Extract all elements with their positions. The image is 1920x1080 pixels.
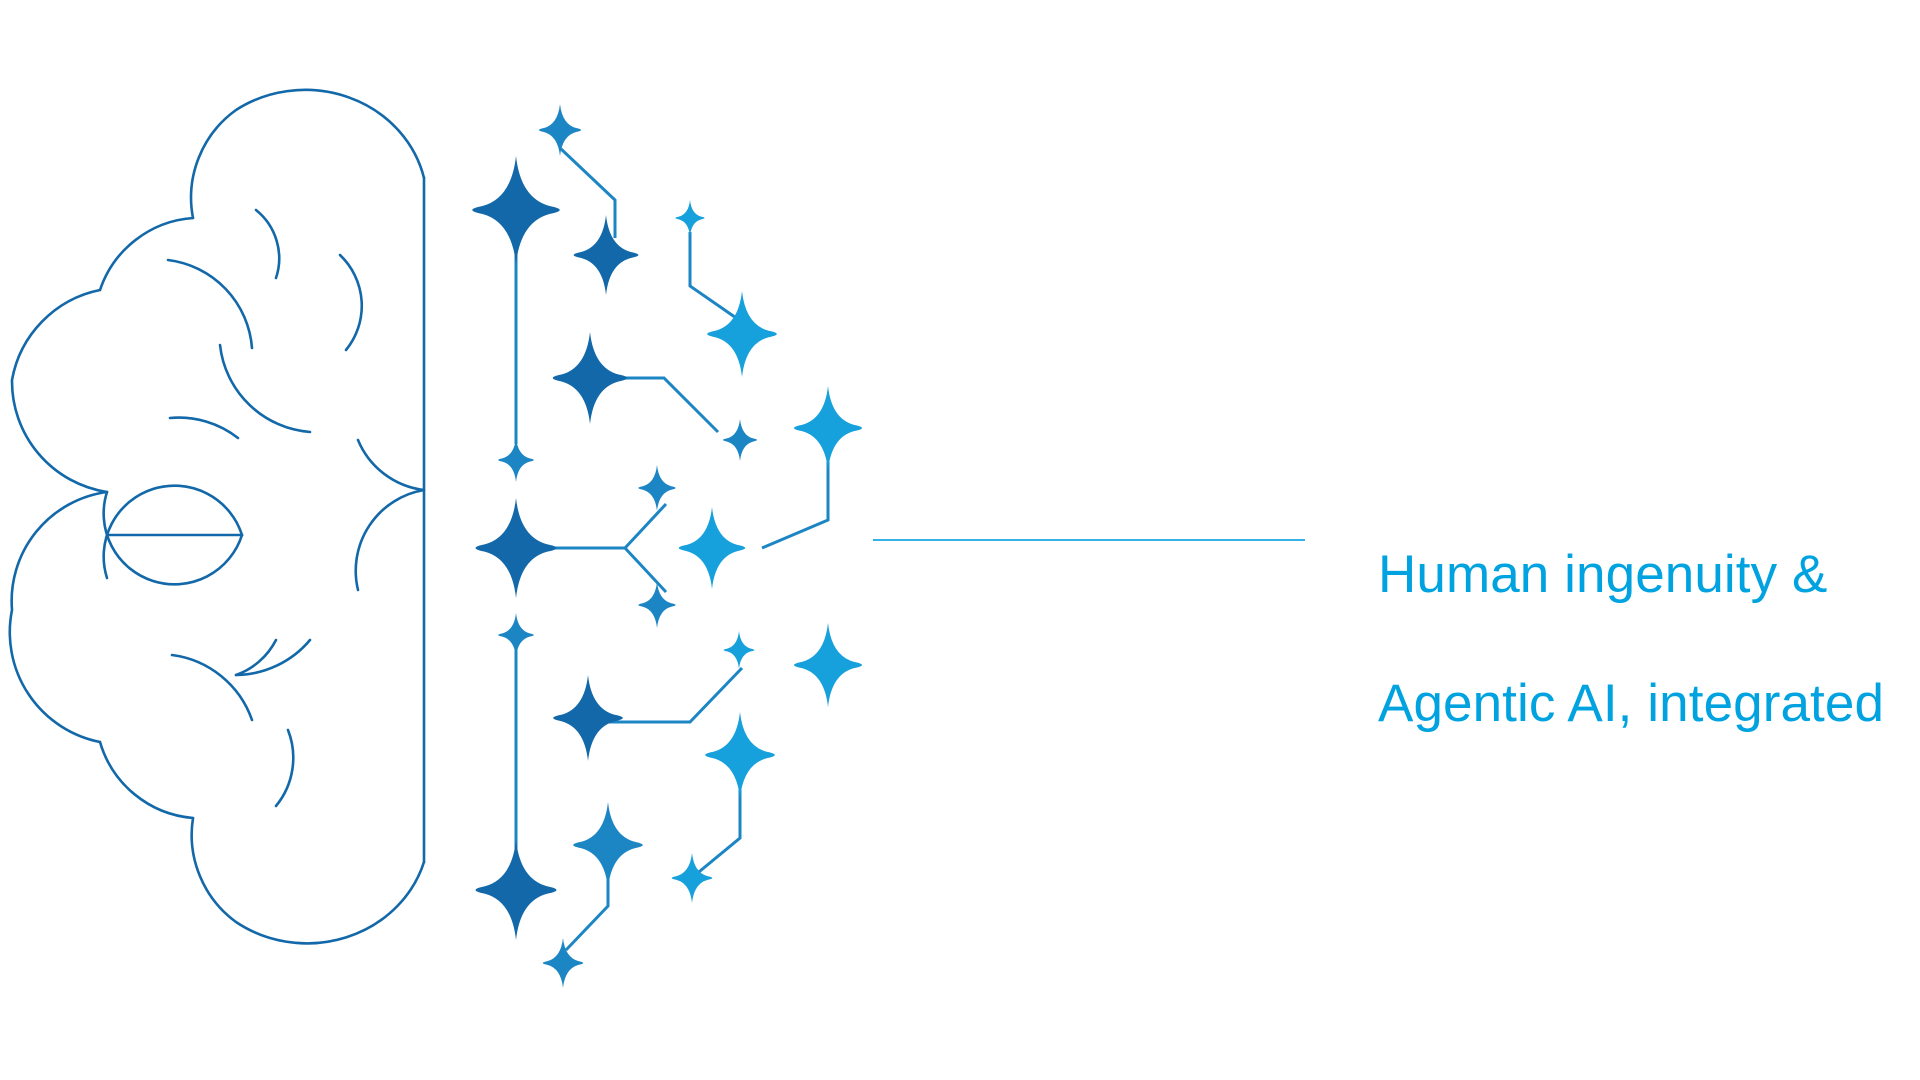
star-mid-left (553, 332, 628, 424)
brain-lobe-lower-mid (100, 742, 193, 818)
star-bottom-mid (573, 802, 643, 888)
connector-hub-up (625, 504, 666, 548)
star-bottom-right-tiny (672, 853, 713, 903)
star-lower-left-mid (553, 675, 623, 761)
connector-hub-down (625, 548, 666, 592)
star-upper-right-tiny (675, 200, 704, 236)
headline-line-1: Human ingenuity & (1378, 543, 1908, 608)
brain-lobe-upper-mid (100, 218, 193, 290)
star-top-small (539, 104, 581, 156)
brain-fold-center-upper (220, 345, 310, 432)
brain-fold-lower-inner (172, 655, 252, 720)
star-mid-right-small (723, 419, 757, 461)
brain-fold-bottom-right (276, 730, 293, 806)
connector-bottom-mid-down (566, 864, 608, 950)
star-lower-mid-bright (705, 712, 775, 798)
brain-fold-center-left (170, 418, 238, 438)
connector-lower-mid-bright-up (694, 782, 740, 876)
headline: Human ingenuity & Agentic AI, integrated (1378, 478, 1908, 801)
connector-lower-left-right (602, 668, 742, 722)
star-bottom-left-large (476, 840, 557, 940)
star-upper-mid (574, 215, 639, 295)
connector-upper-right-tiny-down (690, 232, 742, 322)
star-center-mid (679, 507, 745, 589)
poster-canvas: Human ingenuity & Agentic AI, integrated (0, 0, 1920, 1080)
brain-outline (10, 90, 424, 943)
star-center-left-large (476, 498, 557, 598)
headline-line-2: Agentic AI, integrated (1378, 672, 1908, 737)
connector-mid-left-to-right (605, 378, 718, 432)
star-center-tiny-lower (638, 582, 675, 628)
neural-connectors (516, 148, 828, 950)
connector-right-bright-down (762, 456, 828, 548)
star-lower-spine-small (498, 613, 534, 657)
brain-lobe-top (191, 90, 424, 218)
brain-lobe-mid-upper (12, 290, 107, 492)
brain-fold-upper-far-right (340, 255, 362, 350)
brain-lobe-mid-lower (10, 492, 107, 742)
star-upper-left-large (472, 156, 559, 264)
brain-lobe-bottom (192, 818, 424, 943)
brain-fold-center-right-upper (358, 440, 424, 490)
brain-fold-center-right-lower (356, 490, 424, 590)
star-lower-right-tiny (724, 631, 755, 669)
star-right-bright (794, 386, 862, 470)
star-lower-right-bright (794, 623, 862, 707)
brain-fold-upper-inner (168, 260, 252, 348)
brain-fold-upper-right (256, 210, 279, 278)
sparkle-cluster (472, 104, 862, 988)
star-bottom-tiny (543, 938, 584, 988)
star-center-tiny-upper (638, 465, 675, 511)
star-center-spine-small (498, 438, 534, 482)
